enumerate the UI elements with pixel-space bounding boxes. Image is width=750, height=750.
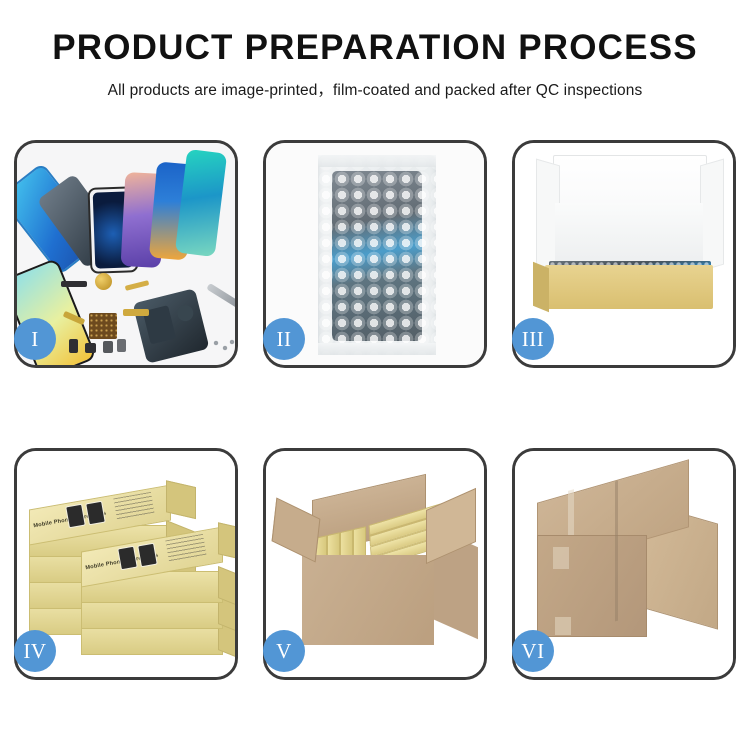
speaker-component (95, 273, 112, 290)
box-label-phone-img-2a (117, 546, 138, 571)
step-badge-6: VI (512, 630, 554, 672)
carton-tape-lower (555, 617, 571, 635)
box-label-phone-img-1a (65, 504, 86, 529)
box-label-phone-img-2b (137, 543, 158, 568)
process-step-6[interactable]: VI (512, 448, 736, 680)
process-step-4[interactable]: Mobile Phone Spare Parts Mobile Phone Sp… (14, 448, 238, 680)
small-part-c (103, 341, 113, 353)
kraft-box-tray (545, 265, 713, 309)
bag-seal-bottom (318, 343, 436, 355)
page-subtitle: All products are image-printed，film-coat… (0, 78, 750, 100)
retail-box-stack: Mobile Phone Spare Parts Mobile Phone Sp… (23, 473, 235, 669)
bag-seal-top (318, 155, 436, 167)
process-step-2[interactable]: II (263, 140, 487, 368)
flex-cable-3 (123, 309, 149, 316)
process-step-5[interactable]: V (263, 448, 487, 680)
phone-backplate-internals (132, 288, 209, 364)
process-step-1[interactable]: I (14, 140, 238, 368)
process-step-3[interactable]: III (512, 140, 736, 368)
step-badge-2: II (263, 318, 305, 360)
small-part-b (85, 343, 96, 353)
repair-tweezers (206, 283, 235, 310)
step-badge-5: V (263, 630, 305, 672)
step-badge-3: III (512, 318, 554, 360)
carton-top-seam (615, 481, 618, 622)
step-badge-1: I (14, 318, 56, 360)
small-part-d (117, 339, 126, 352)
foam-liner (555, 203, 703, 269)
step-badge-4: IV (14, 630, 56, 672)
screws-group (213, 339, 235, 353)
small-part-a (69, 339, 78, 353)
box-label-phone-img-1b (85, 501, 106, 526)
bubble-wrap-bag (318, 155, 436, 355)
chip-grid-component (89, 313, 117, 339)
small-part-strip (61, 281, 87, 287)
page-title: PRODUCT PREPARATION PROCESS (0, 30, 750, 67)
header: PRODUCT PREPARATION PROCESS All products… (0, 0, 750, 100)
carton-front (302, 555, 434, 645)
bubble-texture (318, 155, 436, 355)
process-step-grid: I II III (14, 140, 736, 680)
carton-tape-upper (553, 547, 569, 569)
flex-cable-2 (125, 280, 149, 291)
product-preparation-infographic: PRODUCT PREPARATION PROCESS All products… (0, 0, 750, 750)
